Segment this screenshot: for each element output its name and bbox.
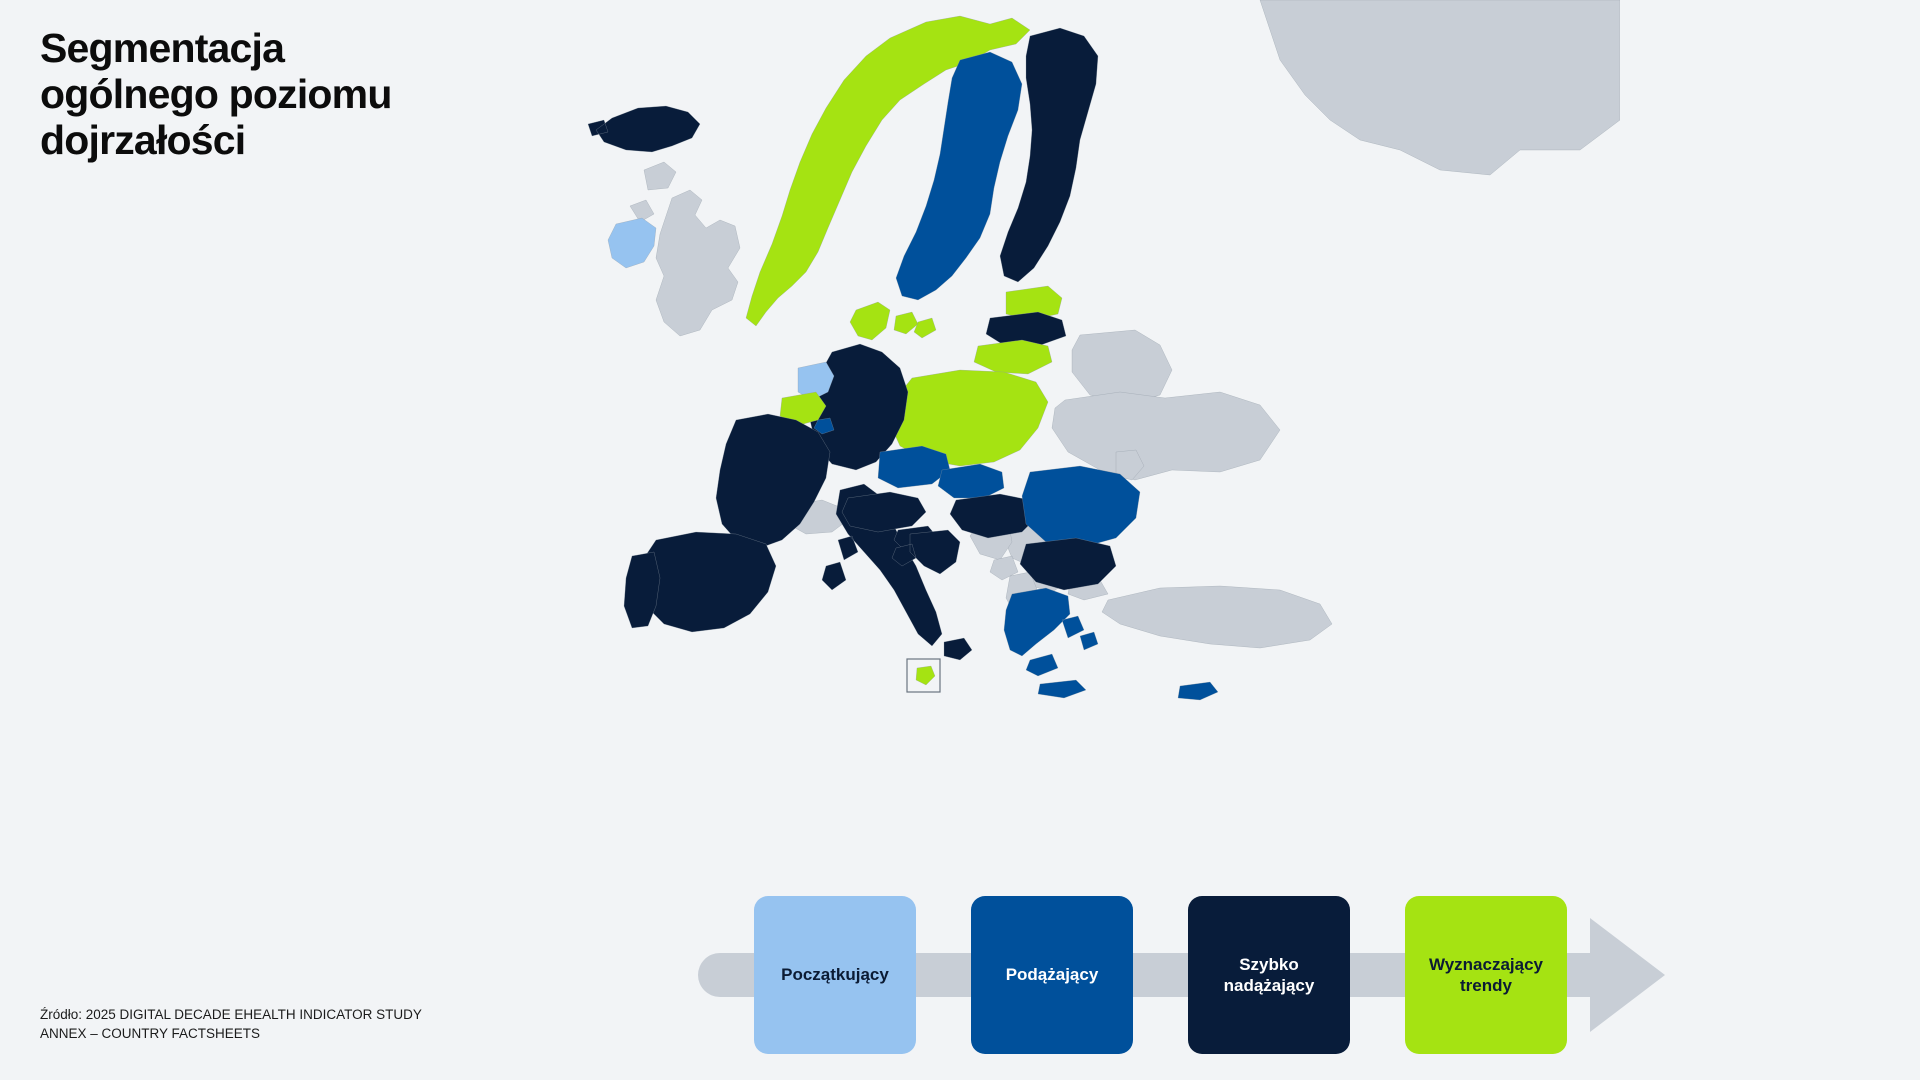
page-title: Segmentacja ogólnego poziomu dojrzałości [40,26,560,164]
country-ua[interactable]: Ukraine [1052,392,1280,480]
country-gr[interactable]: Greece [1004,588,1098,698]
country-fi[interactable]: Finland [1000,28,1098,282]
legend-card-fast_catcher[interactable]: Szybko nadążający [1188,896,1350,1054]
legend-card-label: Wyznaczający trendy [1429,954,1543,997]
legend: PoczątkującyPodążającySzybko nadążającyW… [690,890,1690,1060]
country-cy[interactable]: Cyprus [1178,682,1218,700]
country-tr[interactable]: Turkey [1068,580,1332,648]
legend-card-label: Szybko nadążający [1224,954,1315,997]
legend-card-label: Początkujący [781,964,889,985]
country-is[interactable]: Iceland [588,106,700,152]
map-svg: RussiaBelarusUkraineMoldovaUnited Kingdo… [560,0,1620,880]
legend-card-label: Podążający [1006,964,1099,985]
legend-card-beginner[interactable]: Początkujący [754,896,916,1054]
legend-card-list: PoczątkującyPodążającySzybko nadążającyW… [690,890,1690,1060]
country-ro[interactable]: Romania [1022,466,1140,548]
country-pt[interactable]: Portugal [624,552,660,628]
country-sk[interactable]: Slovakia [938,464,1004,498]
country-es[interactable]: Spain [640,532,776,632]
country-dk[interactable]: Denmark [850,302,936,340]
country-lt[interactable]: Lithuania [974,340,1052,374]
country-ru[interactable]: Russia [1260,0,1620,175]
country-mt[interactable]: Malta [916,666,935,685]
country-at[interactable]: Austria [842,492,926,532]
non-eu-layer: RussiaBelarusUkraineMoldovaUnited Kingdo… [630,0,1620,648]
country-ie[interactable]: Ireland [608,218,656,268]
europe-map: RussiaBelarusUkraineMoldovaUnited Kingdo… [560,0,1620,880]
legend-card-follower[interactable]: Podążający [971,896,1133,1054]
source-note: Źródło: 2025 DIGITAL DECADE EHEALTH INDI… [40,1006,560,1043]
legend-card-trendsetter[interactable]: Wyznaczający trendy [1405,896,1567,1054]
infographic-root: Segmentacja ogólnego poziomu dojrzałości… [0,0,1920,1080]
